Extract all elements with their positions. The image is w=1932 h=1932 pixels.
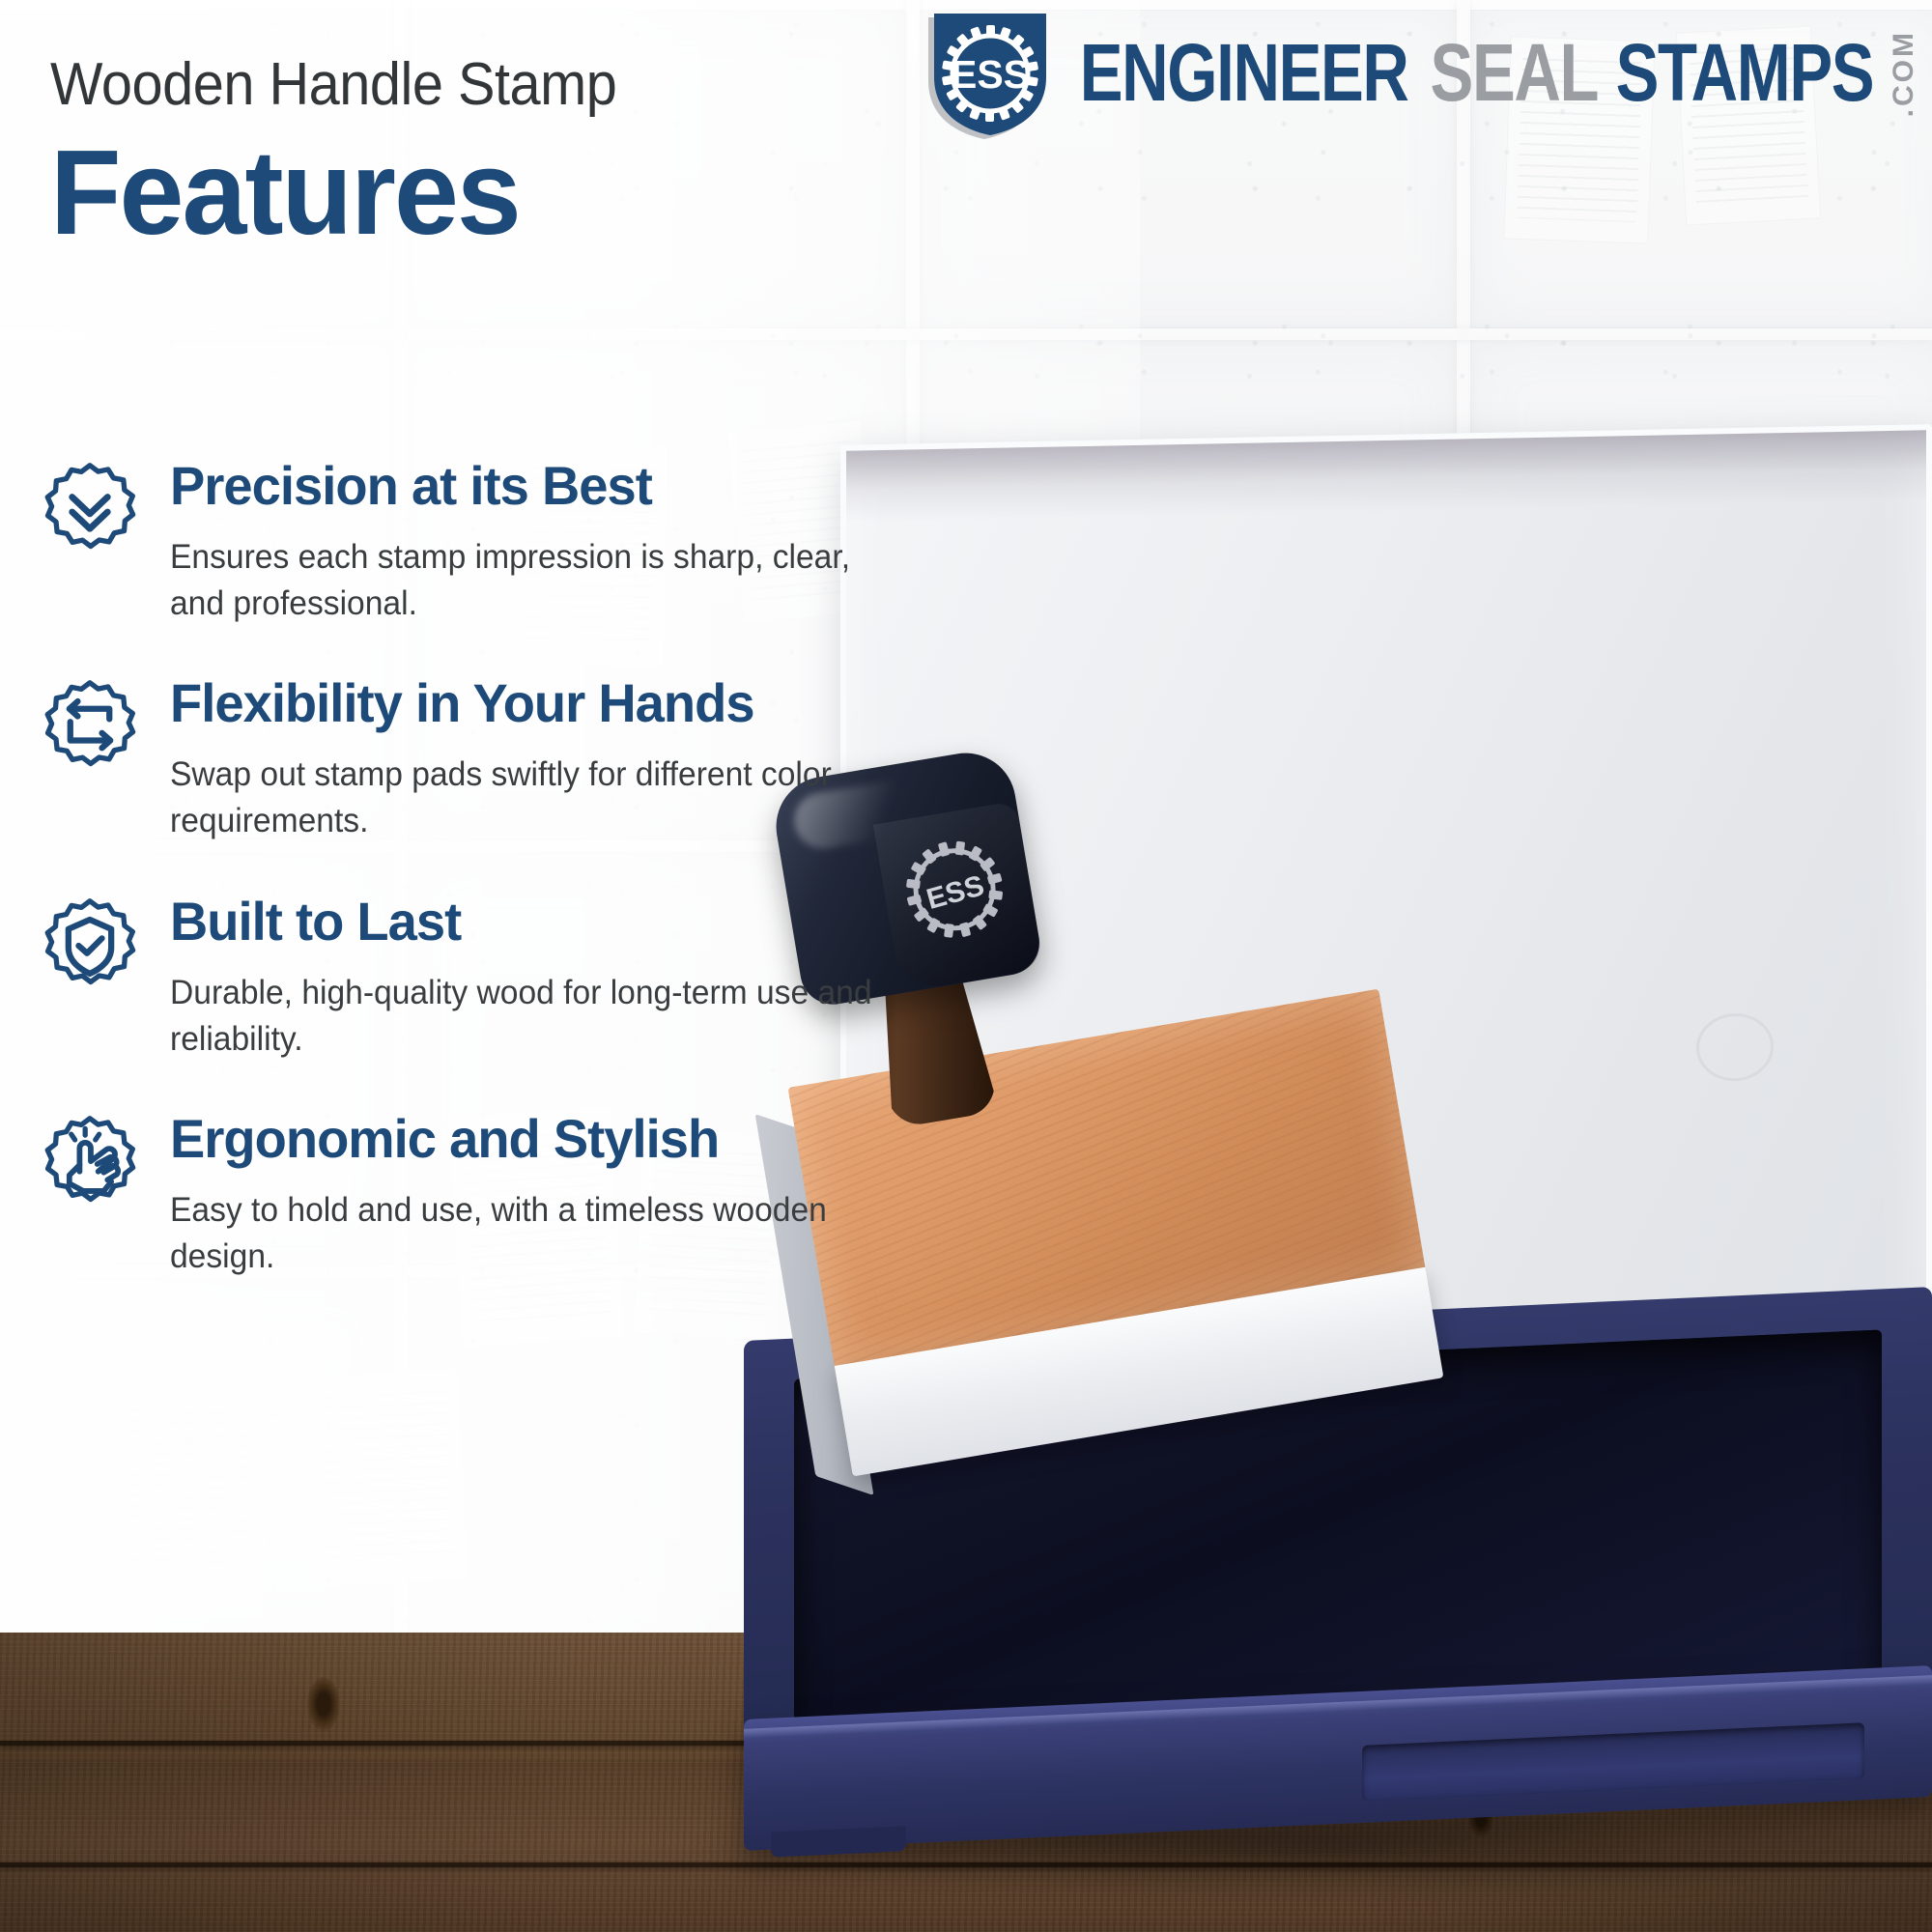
box-thumb-notch	[1362, 1722, 1864, 1802]
brand-word-engineer: ENGINEER	[1080, 33, 1408, 115]
product-photo: ESS	[927, 415, 1932, 1932]
feature-title: Built to Last	[170, 894, 1036, 951]
feature-list: Precision at its Best Ensures each stamp…	[39, 454, 1063, 1325]
feature-item: Flexibility in Your Hands Swap out stamp…	[39, 671, 1063, 844]
brand-word-seal: SEAL	[1430, 33, 1598, 115]
badge-shield-check-icon	[39, 890, 155, 998]
infographic-canvas: ESS Wooden Handle Stamp Features	[0, 0, 1932, 1932]
badge-swap-arrows-icon	[39, 671, 155, 780]
brand-word-stamps: STAMPS	[1616, 33, 1874, 115]
brand-tld: .COM	[1889, 30, 1918, 117]
badge-pointing-hand-icon	[39, 1107, 155, 1215]
feature-title: Ergonomic and Stylish	[170, 1111, 1036, 1168]
feature-title: Flexibility in Your Hands	[170, 675, 1036, 732]
brand-logo[interactable]: ESS ENGINEER SEAL STAMPS .COM	[924, 8, 1918, 139]
page-title: Features	[50, 132, 1063, 254]
brand-wordmark: ENGINEER SEAL STAMPS .COM	[1065, 30, 1918, 117]
feature-description: Swap out stamp pads swiftly for differen…	[170, 752, 902, 845]
feature-description: Easy to hold and use, with a timeless wo…	[170, 1187, 902, 1281]
feature-description: Ensures each stamp impression is sharp, …	[170, 534, 902, 628]
ess-shield-icon: ESS	[924, 8, 1056, 139]
feature-item: Ergonomic and Stylish Easy to hold and u…	[39, 1107, 1063, 1280]
shield-emblem-text: ESS	[951, 52, 1030, 97]
feature-item: Built to Last Durable, high-quality wood…	[39, 890, 1063, 1063]
feature-description: Durable, high-quality wood for long-term…	[170, 970, 902, 1064]
feature-title: Precision at its Best	[170, 458, 1036, 515]
page-eyebrow: Wooden Handle Stamp	[50, 50, 1020, 119]
badge-double-chevron-down-icon	[39, 454, 155, 562]
feature-item: Precision at its Best Ensures each stamp…	[39, 454, 1063, 627]
lid-emboss-mark	[1696, 1012, 1774, 1082]
